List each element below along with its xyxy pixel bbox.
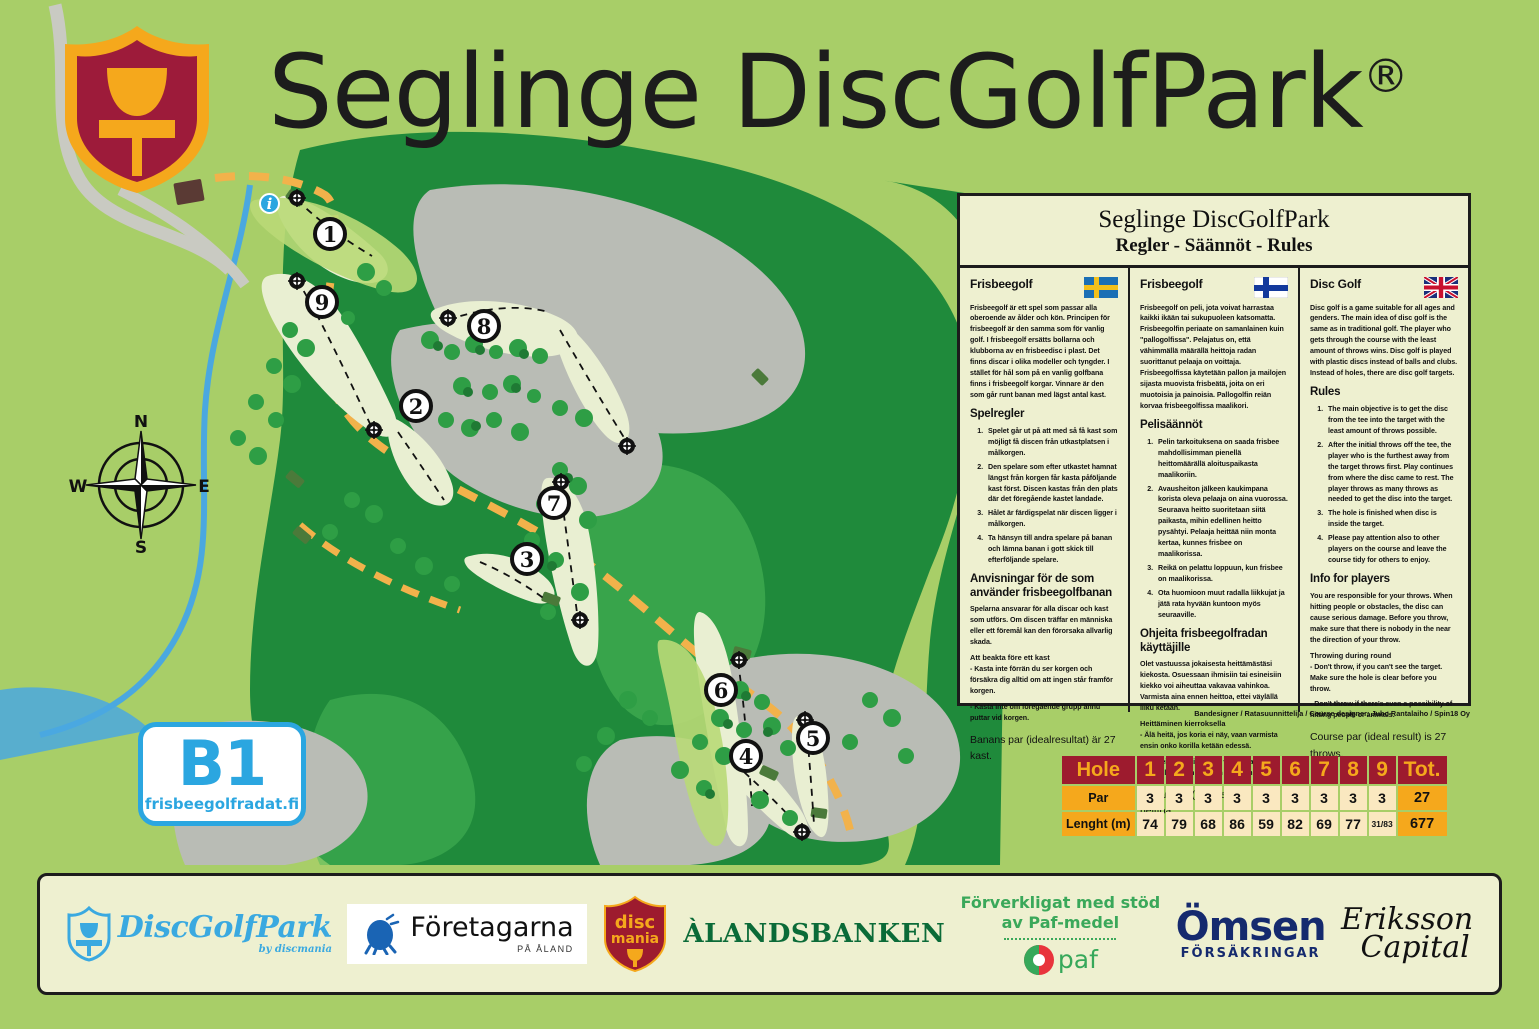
rules-item-en-3: The hole is finished when disc is inside… xyxy=(1325,508,1458,530)
basket-icon-2 xyxy=(288,272,306,290)
hole-marker-9[interactable]: 9 xyxy=(305,285,339,319)
rules-item-sv-2: Den spelare som efter utkastet hamnat lä… xyxy=(985,462,1118,506)
rules-list-en: The main objective is to get the disc fr… xyxy=(1310,404,1458,567)
throw-heading-en: Throwing during round xyxy=(1310,651,1458,660)
scorecard-par-9: 3 xyxy=(1369,786,1396,810)
rules-column-sv: FrisbeegolfFrisbeegolf är ett spel som p… xyxy=(960,268,1128,712)
rules-item-en-1: The main objective is to get the disc fr… xyxy=(1325,404,1458,437)
sponsor-alandsbanken-name: ÀLANDSBANKEN xyxy=(683,919,945,949)
rules-intro-sv: Frisbeegolf är ett spel som passar alla … xyxy=(970,303,1118,402)
scorecard-hole-6: 6 xyxy=(1282,756,1309,784)
discmania-shield-icon: disc mania xyxy=(602,895,668,973)
rules-heading-sv: Spelregler xyxy=(970,408,1118,421)
sponsor-alandsbanken[interactable]: ÀLANDSBANKEN xyxy=(683,919,945,949)
discgolfpark-basket-icon xyxy=(66,906,112,962)
scorecard-hole-7: 7 xyxy=(1311,756,1338,784)
compass-west-label: W xyxy=(69,477,88,497)
scorecard-par-5: 3 xyxy=(1253,786,1280,810)
rules-column-title-fi: Frisbeegolf xyxy=(1140,277,1202,291)
rules-item-en-4: Please pay attention also to other playe… xyxy=(1325,533,1458,566)
discgolfpark-shield-logo xyxy=(55,22,220,197)
scorecard-length-total: 677 xyxy=(1398,812,1447,836)
basket-icon-9 xyxy=(793,823,811,841)
rules-intro-fi: Frisbeegolf on peli, jota voivat harrast… xyxy=(1140,303,1288,413)
scorecard-hole-8: 8 xyxy=(1340,756,1367,784)
foretagarna-mark-icon xyxy=(360,913,402,955)
scorecard-par-1: 3 xyxy=(1137,786,1164,810)
rules-column-header-fi: Frisbeegolf xyxy=(1140,277,1288,298)
scorecard-length-row: Lenght (m)747968865982697731/83677 xyxy=(1062,812,1447,836)
scorecard-hole-label: Hole xyxy=(1062,756,1135,784)
scorecard-length-7: 69 xyxy=(1311,812,1338,836)
hole-marker-2[interactable]: 2 xyxy=(399,389,433,423)
paf-divider xyxy=(1004,938,1116,940)
eriksson-line2: Capital xyxy=(1357,934,1473,962)
sponsor-discgolfpark[interactable]: DiscGolfPark by discmania xyxy=(66,906,332,962)
rules-columns: FrisbeegolfFrisbeegolf är ett spel som p… xyxy=(960,268,1468,712)
scorecard-length-4: 86 xyxy=(1224,812,1251,836)
sponsor-paf[interactable]: Förverkligat med stöd av Paf-medel paf xyxy=(961,893,1161,976)
info-text-en: You are responsible for your throws. Whe… xyxy=(1310,591,1458,646)
sponsor-foretagarna-sub: PÅ ÅLAND xyxy=(410,944,573,954)
rules-column-en: Disc GolfDisc golf is a game suitable fo… xyxy=(1298,268,1468,712)
throw-line-sv-2: - Kasta inte om föregående grupp ännu pu… xyxy=(970,702,1118,724)
rules-panel: Seglinge DiscGolfPark Regler - Säännöt -… xyxy=(957,193,1471,706)
hole-marker-4[interactable]: 4 xyxy=(729,739,763,773)
throw-line-sv-1: - Kasta inte förrän du ser korgen och fö… xyxy=(970,664,1118,697)
badge-url: frisbeegolfradat.fi xyxy=(145,795,299,813)
hole-marker-7[interactable]: 7 xyxy=(537,486,571,520)
sponsor-omsen[interactable]: Ömsen FÖRSÄKRINGAR xyxy=(1176,908,1326,961)
rules-list-fi: Pelin tarkoituksena on saada frisbee mah… xyxy=(1140,437,1288,622)
discmania-line1: disc xyxy=(615,912,655,933)
sponsor-foretagarna[interactable]: Företagarna PÅ ÅLAND xyxy=(347,904,586,964)
scorecard-par-label: Par xyxy=(1062,786,1135,810)
rules-panel-header: Seglinge DiscGolfPark Regler - Säännöt -… xyxy=(960,196,1468,268)
sponsor-bar: DiscGolfPark by discmania Företagarna PÅ… xyxy=(37,873,1502,995)
basket-icon-3 xyxy=(439,309,457,327)
rules-item-sv-1: Spelet går ut på att med så få kast som … xyxy=(985,426,1118,459)
badge-code: B1 xyxy=(178,735,266,794)
rules-item-fi-3: Reikä on pelattu loppuun, kun frisbee on… xyxy=(1155,563,1288,585)
rules-subtitle: Regler - Säännöt - Rules xyxy=(960,235,1468,257)
rules-column-title-sv: Frisbeegolf xyxy=(970,277,1032,291)
scorecard-par-total: 27 xyxy=(1398,786,1447,810)
scorecard-header-row: Hole123456789Tot. xyxy=(1062,756,1447,784)
throw-line-en-1: - Don't throw, if you can't see the targ… xyxy=(1310,662,1458,695)
scorecard-hole-5: 5 xyxy=(1253,756,1280,784)
rules-heading-en: Rules xyxy=(1310,386,1458,399)
scorecard-length-5: 59 xyxy=(1253,812,1280,836)
compass-east-label: E xyxy=(198,477,210,497)
rules-column-fi: FrisbeegolfFrisbeegolf on peli, jota voi… xyxy=(1128,268,1298,712)
scorecard-par-4: 3 xyxy=(1224,786,1251,810)
basket-icon-6 xyxy=(571,611,589,629)
hole-marker-6[interactable]: 6 xyxy=(704,673,738,707)
scorecard-length-label: Lenght (m) xyxy=(1062,812,1135,836)
basket-icon-1 xyxy=(288,189,306,207)
rules-column-title-en: Disc Golf xyxy=(1310,277,1361,291)
paf-headline-2: av Paf-medel xyxy=(961,913,1161,933)
info-heading-sv: Anvisningar för de som använder frisbeeg… xyxy=(970,573,1118,599)
rules-list-sv: Spelet går ut på att med så få kast som … xyxy=(970,426,1118,567)
scorecard-length-8: 77 xyxy=(1340,812,1367,836)
paf-headline-1: Förverkligat med stöd xyxy=(961,893,1161,913)
scorecard-hole-9: 9 xyxy=(1369,756,1396,784)
scorecard-par-2: 3 xyxy=(1166,786,1193,810)
hole-marker-3[interactable]: 3 xyxy=(510,542,544,576)
scorecard-hole-4: 4 xyxy=(1224,756,1251,784)
sponsor-discmania[interactable]: disc mania xyxy=(602,895,668,973)
rules-item-sv-4: Ta hänsyn till andra spelare på banan oc… xyxy=(985,533,1118,566)
sponsor-omsen-sub: FÖRSÄKRINGAR xyxy=(1176,946,1326,961)
scorecard-total-label: Tot. xyxy=(1398,756,1447,784)
page-title: Seglinge DiscGolfPark® xyxy=(268,42,1408,144)
rules-title: Seglinge DiscGolfPark xyxy=(960,206,1468,234)
scorecard-hole-2: 2 xyxy=(1166,756,1193,784)
info-heading-fi: Ohjeita frisbeegolfradan käyttäjille xyxy=(1140,628,1288,654)
rules-heading-fi: Pelisäännöt xyxy=(1140,419,1288,432)
rules-item-fi-1: Pelin tarkoituksena on saada frisbee mah… xyxy=(1155,437,1288,481)
sponsor-discgolfpark-sub: by discmania xyxy=(118,944,332,955)
rules-column-header-sv: Frisbeegolf xyxy=(970,277,1118,298)
basket-icon-4 xyxy=(365,421,383,439)
course-badge-b1[interactable]: B1 frisbeegolfradat.fi xyxy=(138,722,306,826)
info-text-fi: Olet vastuussa jokaisesta heittämästäsi … xyxy=(1140,659,1288,714)
sponsor-omsen-name: Ömsen xyxy=(1176,908,1326,946)
scorecard-table: Hole123456789Tot.Par33333333327Lenght (m… xyxy=(1060,754,1449,838)
discmania-line2: mania xyxy=(611,931,659,947)
registered-trademark-icon: ® xyxy=(1363,49,1408,103)
info-icon[interactable]: i xyxy=(259,193,280,214)
rules-intro-en: Disc golf is a game suitable for all age… xyxy=(1310,303,1458,380)
uk-flag-icon xyxy=(1424,277,1458,298)
hole-marker-1[interactable]: 1 xyxy=(313,217,347,251)
scorecard-par-8: 3 xyxy=(1340,786,1367,810)
sponsor-discgolfpark-name: DiscGolfPark xyxy=(118,913,332,943)
scorecard-hole-1: 1 xyxy=(1137,756,1164,784)
rules-item-sv-3: Hålet är färdigspelat när discen ligger … xyxy=(985,508,1118,530)
rules-item-fi-2: Avausheiton jälkeen kaukimpana korista o… xyxy=(1155,484,1288,561)
sweden-flag-icon xyxy=(1084,277,1118,298)
paf-mark-icon xyxy=(1023,944,1055,976)
hole-marker-5[interactable]: 5 xyxy=(796,721,830,755)
sponsor-foretagarna-name: Företagarna xyxy=(410,914,573,941)
scorecard-par-3: 3 xyxy=(1195,786,1222,810)
park-title-text: Seglinge DiscGolfPark xyxy=(268,33,1363,152)
compass-rose: N E S W xyxy=(66,415,216,555)
paf-name: paf xyxy=(1058,945,1098,974)
rules-item-fi-4: Ota huomioon muut radalla liikkujat ja j… xyxy=(1155,588,1288,621)
compass-south-label: S xyxy=(135,538,147,555)
compass-north-label: N xyxy=(134,415,148,432)
scorecard-hole-3: 3 xyxy=(1195,756,1222,784)
scorecard-par-row: Par33333333327 xyxy=(1062,786,1447,810)
scorecard-length-9: 31/83 xyxy=(1369,812,1396,836)
hole-marker-8[interactable]: 8 xyxy=(467,309,501,343)
scorecard-length-3: 68 xyxy=(1195,812,1222,836)
scorecard-par-6: 3 xyxy=(1282,786,1309,810)
sponsor-eriksson-capital[interactable]: Eriksson Capital xyxy=(1341,906,1473,961)
basket-icon-10 xyxy=(618,437,636,455)
scorecard-length-2: 79 xyxy=(1166,812,1193,836)
finland-flag-icon xyxy=(1254,277,1288,298)
rules-column-header-en: Disc Golf xyxy=(1310,277,1458,298)
scorecard-par-7: 3 xyxy=(1311,786,1338,810)
scorecard-length-1: 74 xyxy=(1137,812,1164,836)
info-text-sv: Spelarna ansvarar för alla discar och ka… xyxy=(970,604,1118,648)
rules-item-en-2: After the initial throws off the tee, th… xyxy=(1325,440,1458,506)
throw-heading-sv: Att beakta före ett kast xyxy=(970,653,1118,662)
throw-line-fi-1: - Älä heitä, jos koria ei näy, vaan varm… xyxy=(1140,730,1288,752)
designer-credit: Bandesigner / Ratasuunnittelija / Course… xyxy=(1190,709,1470,718)
info-heading-en: Info for players xyxy=(1310,573,1458,586)
scorecard-length-6: 82 xyxy=(1282,812,1309,836)
throw-heading-fi: Heittäminen kierroksella xyxy=(1140,719,1288,728)
basket-icon-7 xyxy=(730,651,748,669)
